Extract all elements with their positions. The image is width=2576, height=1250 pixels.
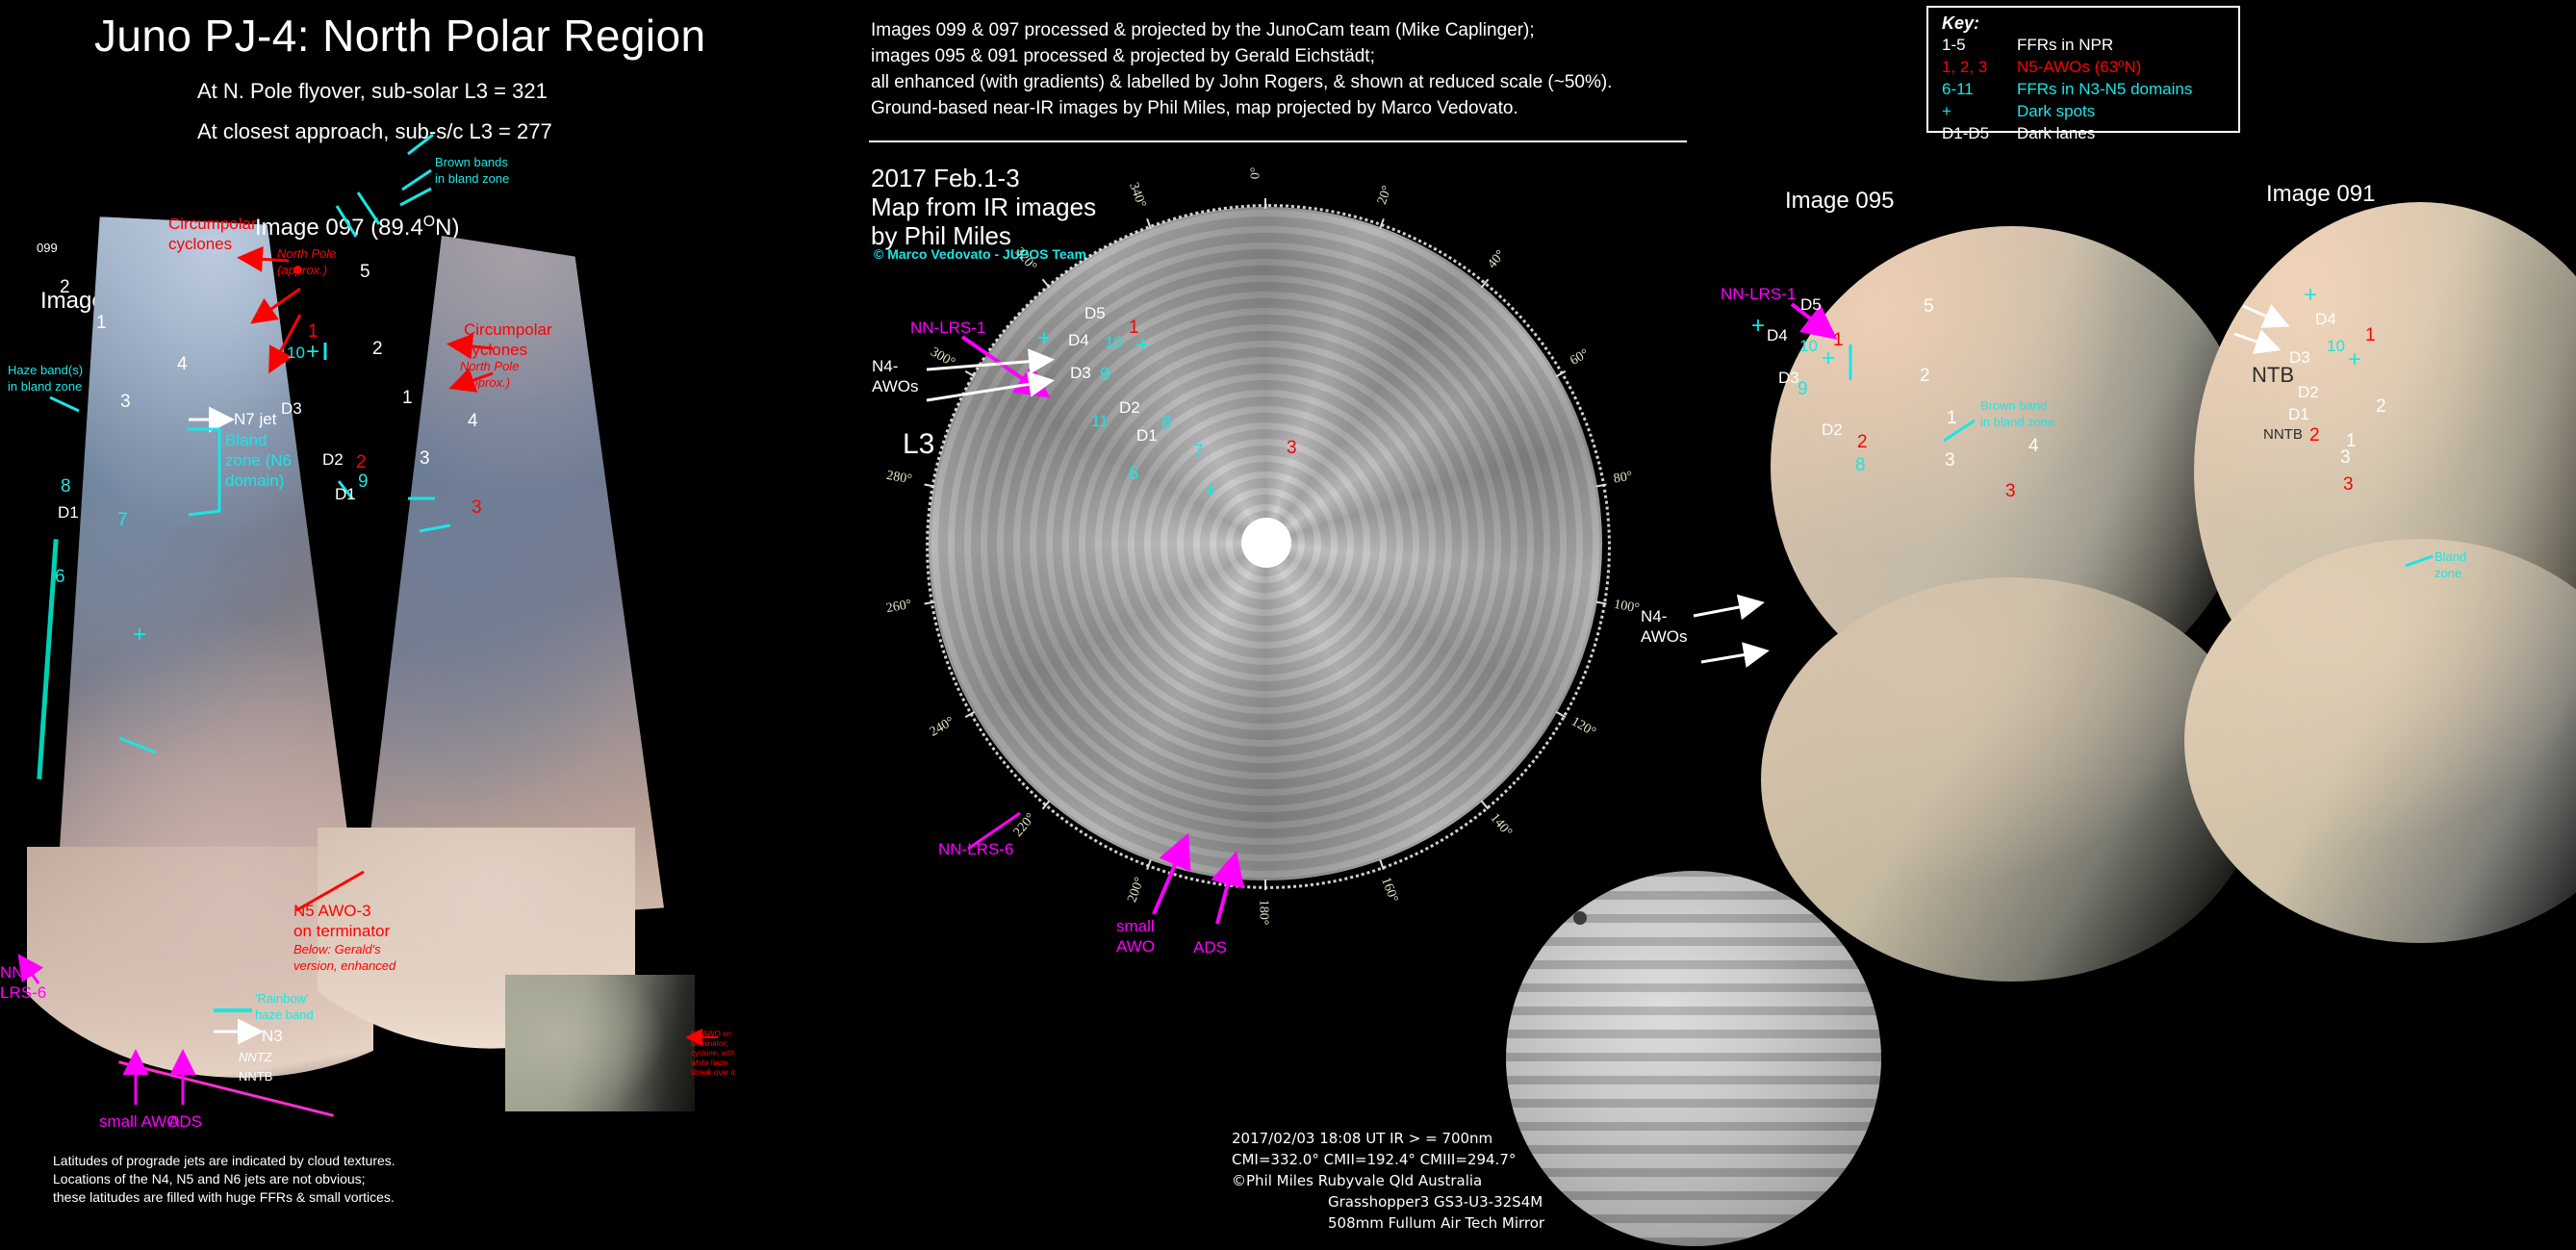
map-longitude-tickmark (1595, 483, 1606, 487)
map-longitude-tick-label: 20° (1375, 184, 1396, 207)
map-longitude-tick-label: 280° (885, 469, 913, 488)
map-longitude-tickmark (1146, 859, 1152, 870)
map-longitude-tickmark (1042, 278, 1051, 288)
map-longitude-tick-label: 180° (1255, 900, 1270, 926)
map-longitude-tick-label: 140° (1486, 811, 1514, 841)
map-longitude-tick-label: 40° (1485, 247, 1509, 271)
map-longitude-tickmark (1379, 859, 1385, 870)
map-tick-layer: 0°20°40°60°80°100°120°140°160°180°200°22… (0, 0, 2576, 1250)
map-longitude-tick-label: 240° (928, 714, 957, 740)
map-longitude-tickmark (1146, 218, 1152, 229)
map-longitude-tickmark (1264, 198, 1266, 209)
map-longitude-tickmark (1555, 370, 1566, 377)
map-longitude-tick-label: 60° (1568, 346, 1592, 370)
map-longitude-tick-label: 160° (1378, 876, 1401, 905)
map-longitude-tick-label: 260° (885, 597, 913, 616)
map-longitude-tickmark (1480, 801, 1489, 810)
map-longitude-tick-label: 120° (1568, 714, 1597, 740)
map-longitude-tickmark (1595, 601, 1606, 605)
map-longitude-tick-label: 0° (1248, 167, 1263, 180)
map-longitude-tickmark (925, 601, 935, 605)
map-longitude-tickmark (1379, 218, 1385, 229)
map-longitude-tickmark (925, 483, 935, 487)
map-longitude-tick-label: 200° (1125, 876, 1148, 905)
map-longitude-tickmark (1480, 278, 1489, 288)
map-longitude-tickmark (1555, 711, 1566, 718)
map-longitude-tick-label: 220° (1011, 811, 1039, 841)
map-longitude-tick-label: 340° (1125, 181, 1148, 210)
map-longitude-tick-label: 80° (1613, 470, 1634, 488)
map-longitude-tick-label: 300° (928, 344, 957, 370)
map-longitude-tickmark (965, 711, 976, 718)
map-longitude-tickmark (965, 370, 976, 377)
map-longitude-tick-label: 100° (1613, 597, 1641, 616)
map-longitude-tickmark (1264, 880, 1266, 890)
map-longitude-tickmark (1042, 801, 1051, 810)
map-longitude-tick-label: 320° (1011, 244, 1039, 274)
